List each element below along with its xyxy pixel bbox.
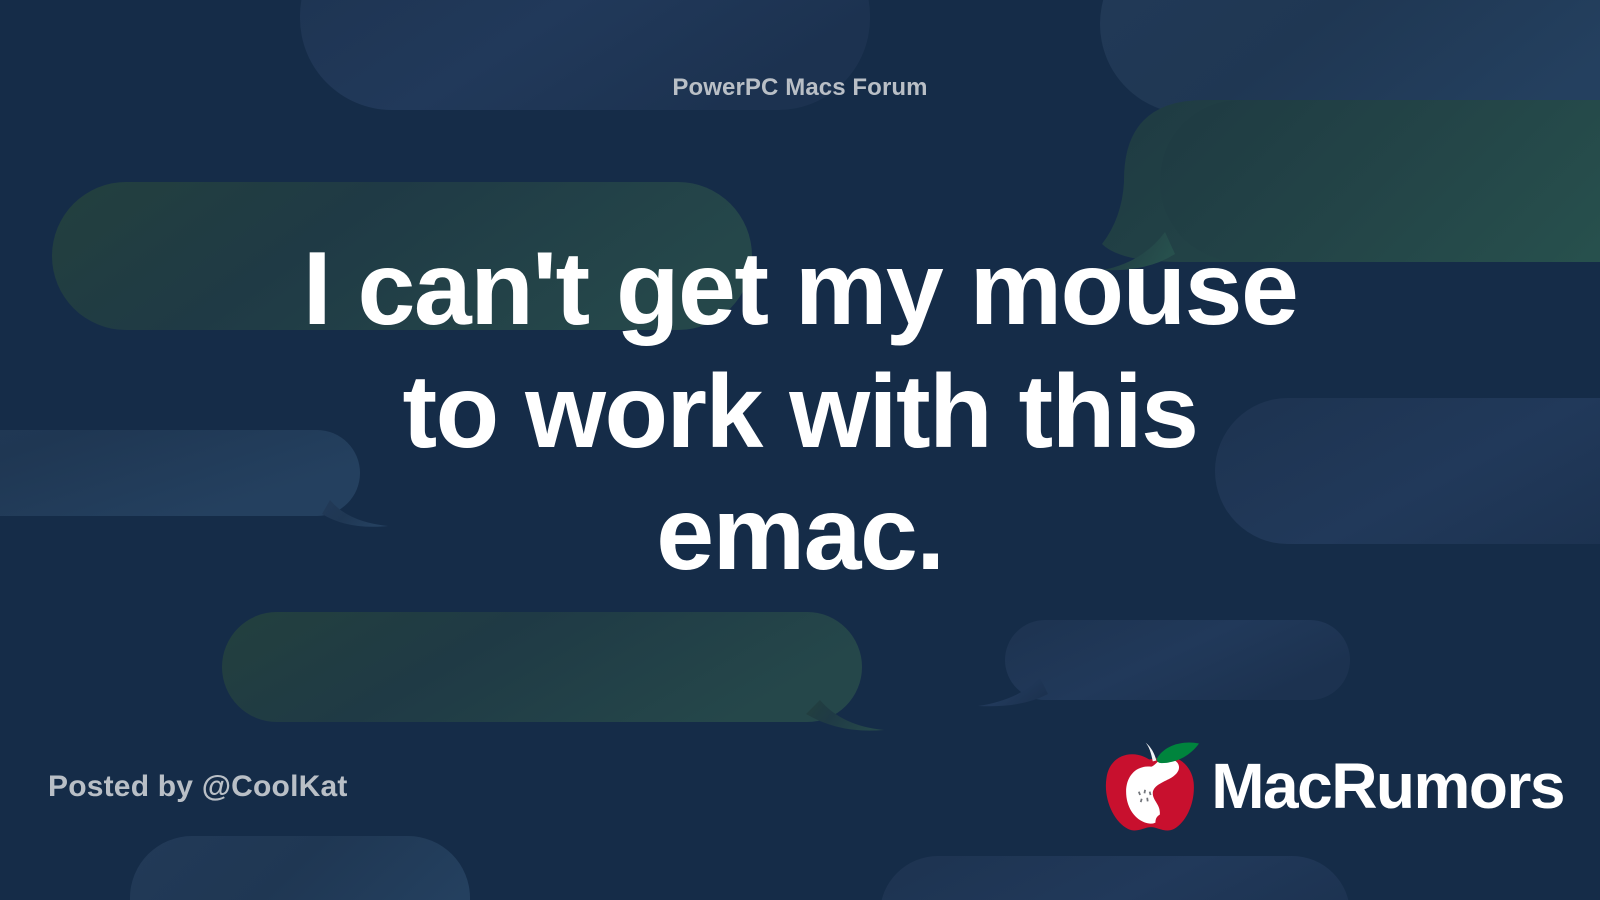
headline-line-1: I can't get my mouse <box>100 228 1500 351</box>
post-headline: I can't get my mouse to work with this e… <box>100 228 1500 596</box>
headline-line-3: emac. <box>100 473 1500 596</box>
macrumors-branding: MacRumors <box>1097 740 1564 836</box>
macrumors-wordmark: MacRumors <box>1211 754 1564 818</box>
headline-line-2: to work with this <box>100 351 1500 474</box>
macrumors-apple-logo-icon <box>1097 740 1205 836</box>
post-author: Posted by @CoolKat <box>48 770 348 804</box>
social-share-card: PowerPC Macs Forum I can't get my mouse … <box>0 0 1600 900</box>
forum-title: PowerPC Macs Forum <box>0 74 1600 102</box>
